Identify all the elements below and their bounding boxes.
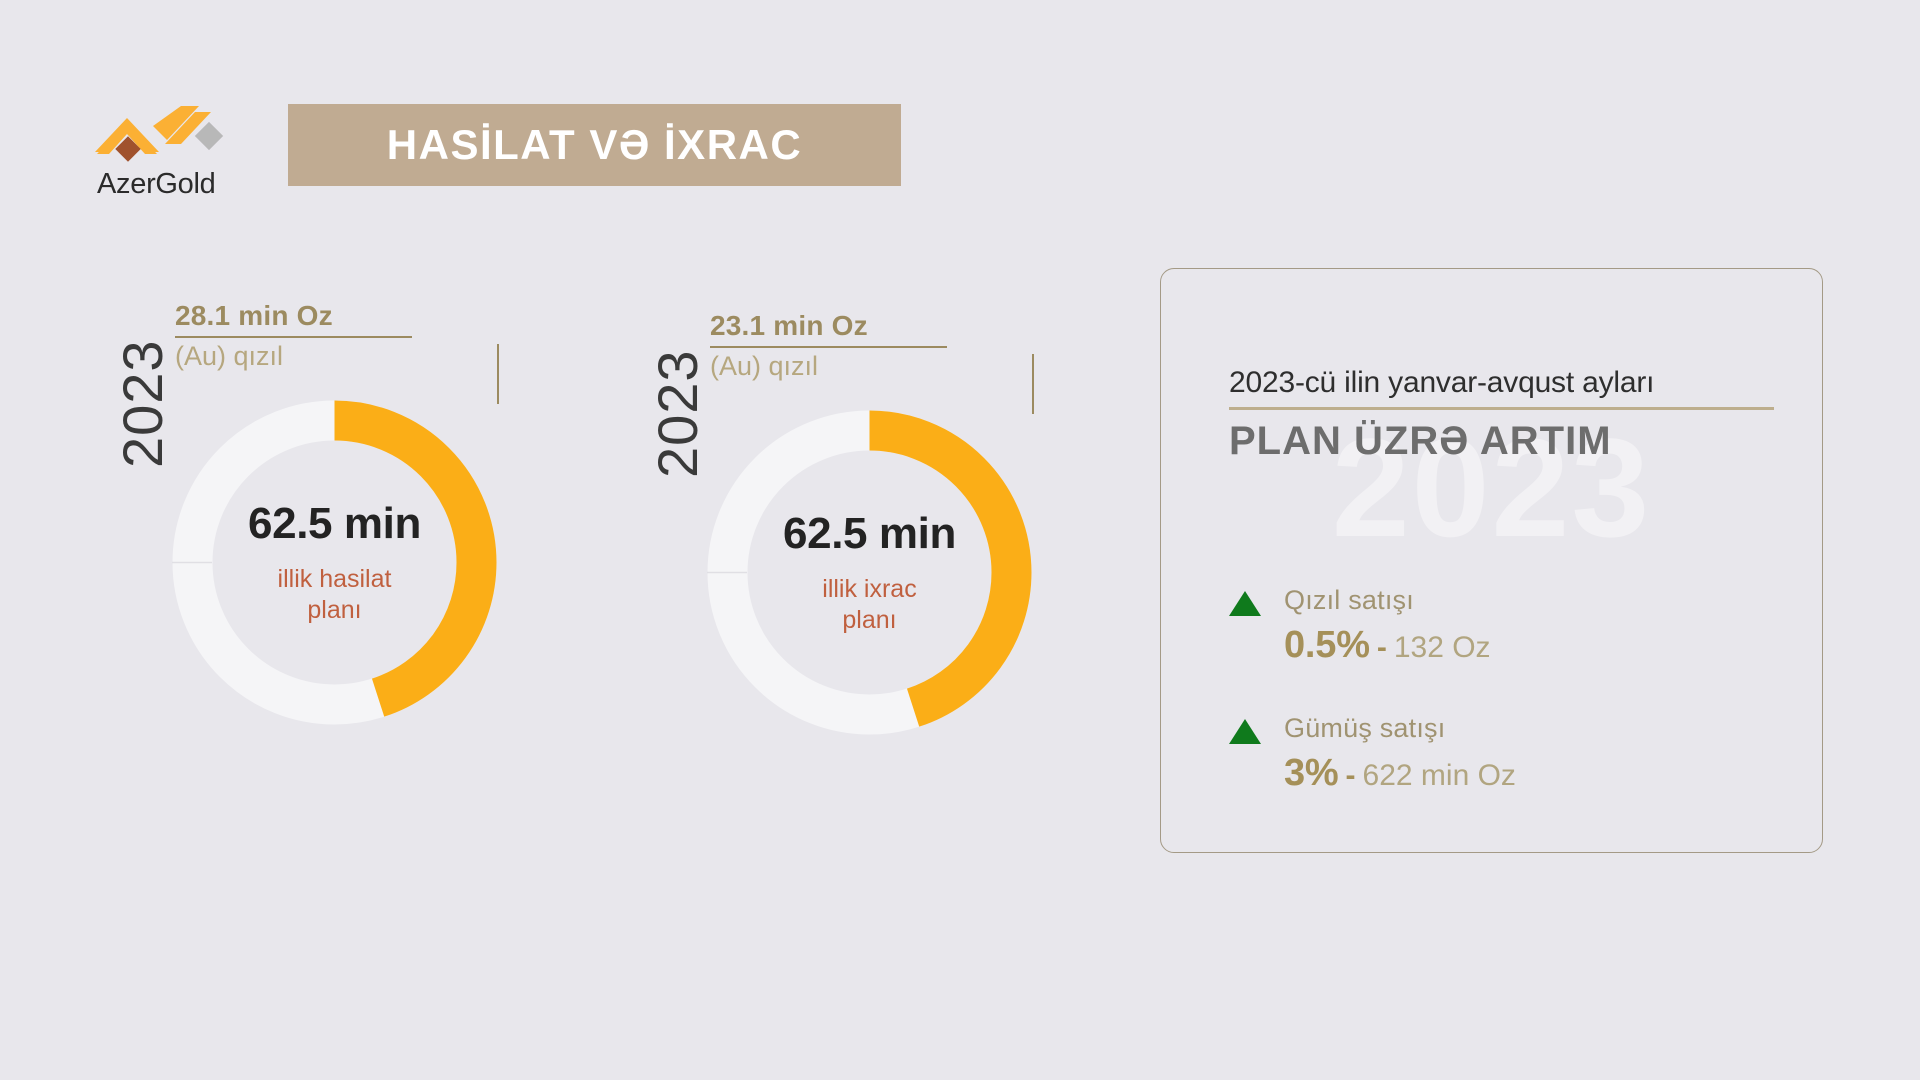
stat-percent: 3%	[1284, 752, 1339, 795]
stat-dash: -	[1377, 631, 1387, 665]
donut-callout: 23.1 min Oz (Au) qızıl	[710, 310, 947, 382]
page-title-banner: HASİLAT VƏ İXRAC	[288, 104, 901, 186]
panel-stats-list: Qızıl satışı 0.5% - 132 Oz Gümüş satışı …	[1229, 585, 1789, 841]
donut-total-value: 62.5 min	[783, 509, 956, 559]
donut-caption-line1: illik hasilat	[278, 564, 392, 595]
stat-row-gold: Qızıl satışı 0.5% - 132 Oz	[1229, 585, 1789, 667]
donut-caption-line1: illik ixrac	[822, 574, 916, 605]
donut-ring: 62.5 min illik ixrac planı	[697, 400, 1042, 745]
donut-callout: 28.1 min Oz (Au) qızıl	[175, 300, 412, 372]
panel-subtitle: 2023-cü ilin yanvar-avqust ayları	[1229, 366, 1774, 400]
donut-callout-rule	[710, 346, 947, 348]
stat-figure: 0.5% - 132 Oz	[1284, 624, 1491, 667]
donut-callout-label: (Au) qızıl	[175, 341, 412, 372]
donut-callout-rule	[175, 336, 412, 338]
stat-row-silver: Gümüş satışı 3% - 622 min Oz	[1229, 713, 1789, 795]
donut-callout-value: 23.1 min Oz	[710, 310, 947, 342]
panel-divider	[1229, 407, 1774, 410]
brand-wordmark: AzerGold	[95, 168, 245, 201]
donut-callout-value: 28.1 min Oz	[175, 300, 412, 332]
panel-header: 2023-cü ilin yanvar-avqust ayları PLAN Ü…	[1229, 366, 1774, 464]
donut-ring: 62.5 min illik hasilat planı	[162, 390, 507, 735]
triangle-up-icon	[1229, 591, 1261, 616]
stat-body: Qızıl satışı 0.5% - 132 Oz	[1284, 585, 1491, 667]
panel-heading: PLAN ÜZRƏ ARTIM	[1229, 419, 1774, 464]
donut-caption-line2: planı	[822, 605, 916, 636]
triangle-up-icon	[1229, 719, 1261, 744]
donut-total-value: 62.5 min	[248, 499, 421, 549]
plan-growth-panel: 2023 2023-cü ilin yanvar-avqust ayları P…	[1160, 268, 1823, 853]
brand-logo: AzerGold	[95, 92, 245, 201]
donut-caption: illik hasilat planı	[278, 564, 392, 627]
stat-body: Gümüş satışı 3% - 622 min Oz	[1284, 713, 1516, 795]
donut-caption: illik ixrac planı	[822, 574, 916, 637]
donut-callout-label: (Au) qızıl	[710, 351, 947, 382]
stat-label: Qızıl satışı	[1284, 585, 1491, 616]
page-title: HASİLAT VƏ İXRAC	[387, 121, 802, 169]
stat-figure: 3% - 622 min Oz	[1284, 752, 1516, 795]
stat-amount: 132 Oz	[1394, 631, 1491, 665]
donut-caption-line2: planı	[278, 595, 392, 626]
donut-center-content: 62.5 min illik ixrac planı	[697, 400, 1042, 745]
azergold-chevron-logo-icon	[95, 92, 227, 164]
donut-center-content: 62.5 min illik hasilat planı	[162, 390, 507, 735]
stat-label: Gümüş satışı	[1284, 713, 1516, 744]
stat-percent: 0.5%	[1284, 624, 1370, 667]
stat-dash: -	[1346, 759, 1356, 793]
stat-amount: 622 min Oz	[1363, 759, 1516, 793]
